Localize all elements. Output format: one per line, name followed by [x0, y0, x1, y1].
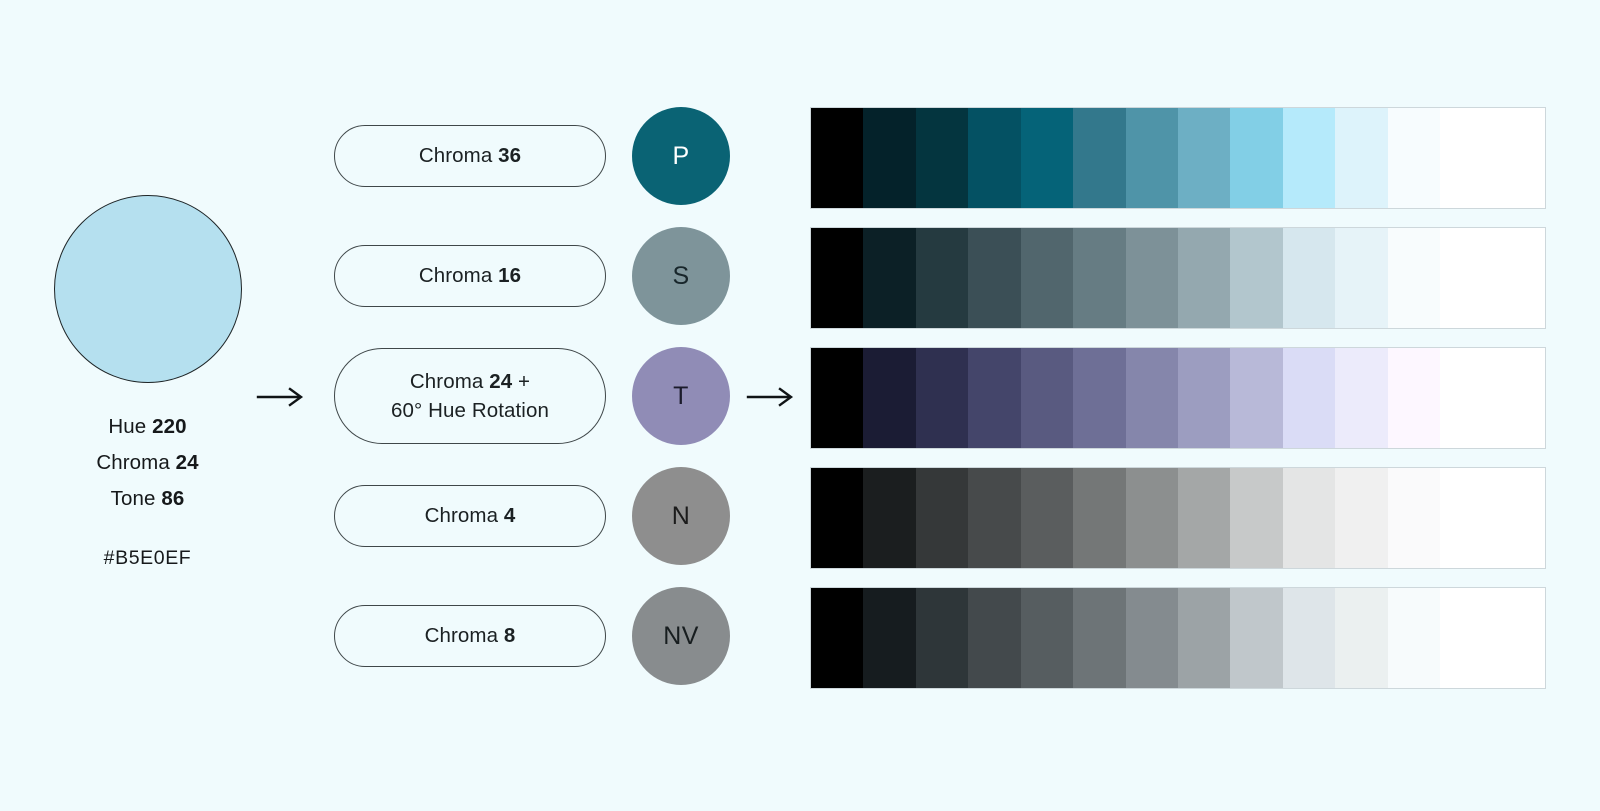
tone-swatch[interactable] [811, 468, 863, 568]
role-circle-letter: T [673, 382, 689, 411]
tone-swatch[interactable] [1335, 468, 1387, 568]
chroma-pill-neutral[interactable]: Chroma 4 [334, 485, 606, 547]
tone-swatch[interactable] [1073, 348, 1125, 448]
tone-swatch[interactable] [1126, 228, 1178, 328]
tone-swatch[interactable] [1021, 228, 1073, 328]
tone-swatch[interactable] [1388, 588, 1440, 688]
tone-swatch[interactable] [1388, 108, 1440, 208]
role-circle-letter: S [672, 262, 689, 291]
role-circle-tertiary[interactable]: T [632, 347, 730, 445]
tone-swatch[interactable] [1073, 108, 1125, 208]
chroma-value: 36 [498, 144, 521, 167]
tone-swatch[interactable] [811, 588, 863, 688]
tonal-ramp-p [811, 108, 1545, 208]
role-circle-letter: N [672, 502, 690, 531]
chroma-prefix: Chroma [425, 504, 504, 527]
tone-swatch[interactable] [1440, 108, 1492, 208]
tone-swatch[interactable] [968, 468, 1020, 568]
role-row-secondary: Chroma 16S [334, 228, 730, 324]
tone-swatch[interactable] [1021, 588, 1073, 688]
role-row-tertiary: Chroma 24 +60° Hue RotationT [334, 348, 730, 444]
chroma-pill-label-neutral-variant: Chroma 8 [425, 621, 516, 650]
chroma-pill-secondary[interactable]: Chroma 16 [334, 245, 606, 307]
role-circle-letter: P [672, 142, 689, 171]
role-row-neutral: Chroma 4N [334, 468, 730, 564]
tone-swatch[interactable] [968, 588, 1020, 688]
tone-swatch[interactable] [811, 348, 863, 448]
tone-swatch[interactable] [1126, 468, 1178, 568]
tone-swatch[interactable] [1073, 468, 1125, 568]
role-circle-neutral[interactable]: N [632, 467, 730, 565]
tone-swatch[interactable] [1073, 228, 1125, 328]
tonal-ramp-t [811, 348, 1545, 448]
tone-swatch[interactable] [1178, 348, 1230, 448]
tone-swatch[interactable] [1492, 108, 1544, 208]
tone-swatch[interactable] [1492, 228, 1544, 328]
role-row-primary: Chroma 36P [334, 108, 730, 204]
chroma-prefix: Chroma [419, 144, 498, 167]
tone-swatch[interactable] [863, 108, 915, 208]
chroma-value: 8 [504, 624, 516, 647]
diagram-canvas: Hue 220 Chroma 24 Tone 86 #B5E0EF Chro [0, 0, 1600, 811]
tone-swatch[interactable] [1230, 468, 1282, 568]
role-circle-primary[interactable]: P [632, 107, 730, 205]
chroma-pill-label-secondary: Chroma 16 [419, 261, 521, 290]
tone-swatch[interactable] [1335, 348, 1387, 448]
tone-swatch[interactable] [1440, 588, 1492, 688]
tonal-ramp-s [811, 228, 1545, 328]
chroma-pill-tertiary[interactable]: Chroma 24 +60° Hue Rotation [334, 348, 606, 444]
tone-swatch[interactable] [1283, 468, 1335, 568]
tone-swatch[interactable] [968, 348, 1020, 448]
tone-swatch[interactable] [1126, 588, 1178, 688]
role-circle-neutral-variant[interactable]: NV [632, 587, 730, 685]
role-row-neutral-variant: Chroma 8NV [334, 588, 730, 684]
tone-swatch[interactable] [1335, 588, 1387, 688]
tonal-ramp-n [811, 468, 1545, 568]
tone-swatch[interactable] [1230, 588, 1282, 688]
tone-swatch[interactable] [1126, 108, 1178, 208]
hue-rotation-label: 60° Hue Rotation [391, 399, 549, 422]
tone-swatch[interactable] [1178, 228, 1230, 328]
tone-swatch[interactable] [1178, 468, 1230, 568]
tone-swatch[interactable] [1440, 468, 1492, 568]
role-circle-letter: NV [663, 622, 699, 651]
tone-swatch[interactable] [863, 228, 915, 328]
tone-swatch[interactable] [1021, 108, 1073, 208]
tone-swatch[interactable] [1335, 228, 1387, 328]
tone-swatch[interactable] [1440, 228, 1492, 328]
chroma-value: 4 [504, 504, 516, 527]
role-circle-secondary[interactable]: S [632, 227, 730, 325]
chroma-prefix: Chroma [410, 370, 489, 393]
tone-swatch[interactable] [1388, 348, 1440, 448]
chroma-value: 16 [498, 264, 521, 287]
chroma-pill-label-tertiary: Chroma 24 +60° Hue Rotation [391, 367, 549, 425]
tone-swatch[interactable] [1492, 588, 1544, 688]
tone-swatch[interactable] [1388, 468, 1440, 568]
tone-swatch[interactable] [863, 468, 915, 568]
tone-swatch[interactable] [1021, 348, 1073, 448]
tone-swatch[interactable] [1230, 228, 1282, 328]
tone-swatch[interactable] [968, 108, 1020, 208]
tone-swatch[interactable] [1283, 348, 1335, 448]
tone-swatch[interactable] [811, 108, 863, 208]
tone-swatch[interactable] [1230, 348, 1282, 448]
tone-swatch[interactable] [1126, 348, 1178, 448]
tone-swatch[interactable] [1178, 588, 1230, 688]
tone-swatch[interactable] [1073, 588, 1125, 688]
tone-swatch[interactable] [916, 588, 968, 688]
tone-swatch[interactable] [1388, 228, 1440, 328]
tonal-ramp-nv [811, 588, 1545, 688]
tone-swatch[interactable] [1021, 468, 1073, 568]
chroma-pill-primary[interactable]: Chroma 36 [334, 125, 606, 187]
chroma-prefix: Chroma [425, 624, 504, 647]
tone-swatch[interactable] [863, 588, 915, 688]
tone-swatch[interactable] [916, 468, 968, 568]
tone-swatch[interactable] [916, 228, 968, 328]
chroma-value: 24 [489, 370, 512, 393]
tone-swatch[interactable] [1440, 348, 1492, 448]
tone-swatch[interactable] [1283, 228, 1335, 328]
tone-swatch[interactable] [1492, 348, 1544, 448]
chroma-suffix: + [512, 370, 530, 393]
tone-swatch[interactable] [863, 348, 915, 448]
tone-swatch[interactable] [811, 228, 863, 328]
tone-swatch[interactable] [1335, 108, 1387, 208]
tone-swatch[interactable] [916, 348, 968, 448]
tone-swatch[interactable] [1178, 108, 1230, 208]
chroma-prefix: Chroma [419, 264, 498, 287]
tone-swatch[interactable] [1283, 588, 1335, 688]
tone-swatch[interactable] [916, 108, 968, 208]
chroma-pill-label-neutral: Chroma 4 [425, 501, 516, 530]
tone-swatch[interactable] [1492, 468, 1544, 568]
tone-swatch[interactable] [1230, 108, 1282, 208]
tone-swatch[interactable] [968, 228, 1020, 328]
chroma-pill-neutral-variant[interactable]: Chroma 8 [334, 605, 606, 667]
tone-swatch[interactable] [1283, 108, 1335, 208]
chroma-pill-label-primary: Chroma 36 [419, 141, 521, 170]
